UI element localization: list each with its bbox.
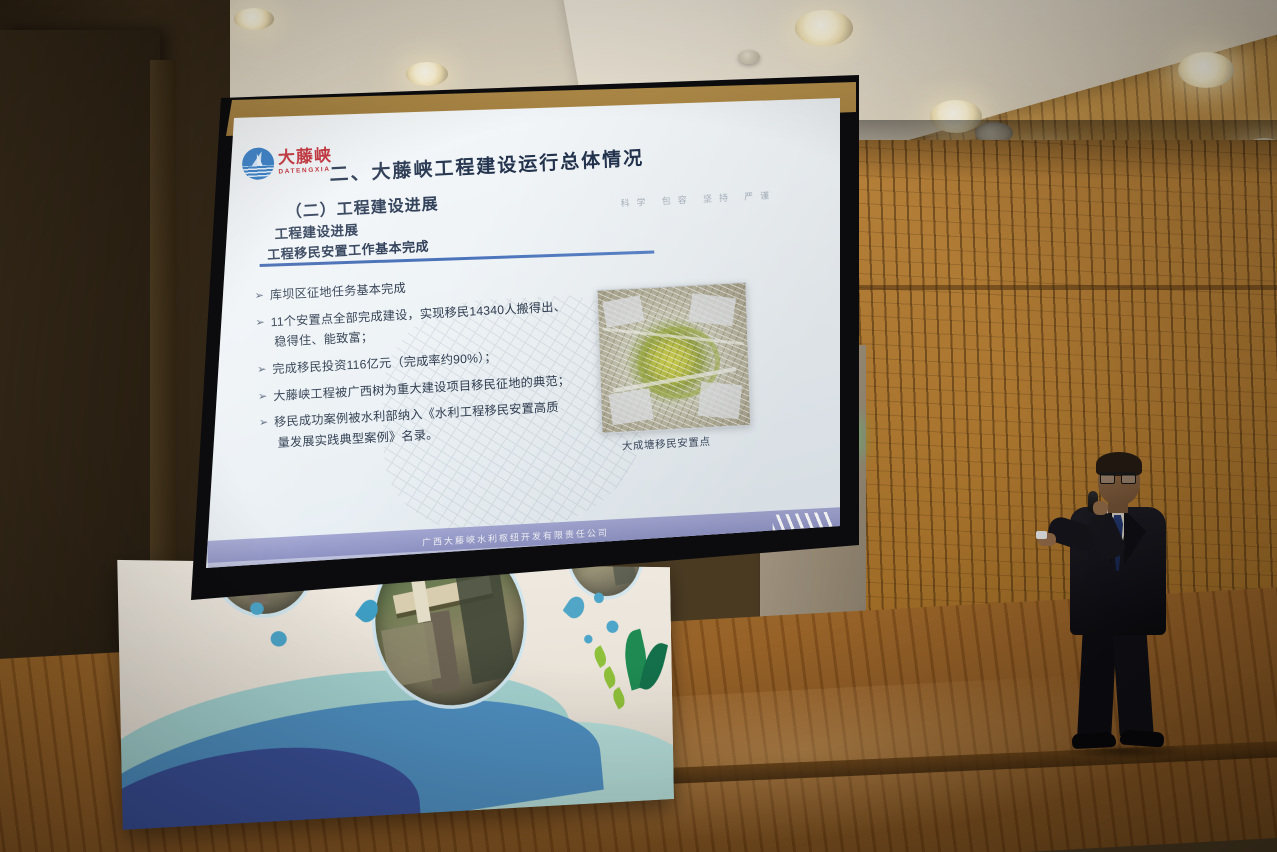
downlight-icon (234, 8, 274, 30)
water-dot-icon (250, 602, 264, 615)
slide-bullet-list: ➢ 库坝区征地任务基本完成 ➢ 11个安置点全部完成建设，实现移民14340人搬… (254, 267, 654, 463)
company-logo: 大藤峡 DATENGXIA (242, 144, 333, 181)
water-dot-icon (594, 593, 604, 604)
smoke-detector (738, 50, 760, 64)
downlight-icon (1178, 52, 1234, 88)
bullet-text: 稳得住、能致富； (274, 329, 374, 352)
slide-section-title: 二、大藤峡工程建设运行总体情况 (329, 143, 644, 187)
plant-leaf-icon (601, 666, 618, 689)
eyeglasses-icon (1100, 472, 1136, 482)
plant-leaf-icon (592, 645, 610, 668)
water-droplet-icon (563, 592, 588, 622)
bullet-arrow-icon: ➢ (258, 388, 268, 406)
water-dot-icon (270, 631, 286, 646)
presentation-clicker (1036, 531, 1047, 539)
datengxia-sail-emblem-icon (242, 147, 275, 181)
bullet-arrow-icon: ➢ (254, 288, 264, 306)
dachengtang-resettlement-aerial-photo (597, 282, 752, 434)
water-dot-icon (606, 621, 618, 633)
presentation-slide: 大藤峡 DATENGXIA 二、大藤峡工程建设运行总体情况 （二）工程建设进展 … (200, 98, 840, 568)
slide-subsection-title: （二）工程建设进展 (285, 190, 439, 222)
bullet-arrow-icon: ➢ (259, 415, 269, 433)
bullet-arrow-icon: ➢ (255, 314, 265, 332)
presenter-speaking (1036, 455, 1196, 760)
bullet-arrow-icon: ➢ (257, 362, 267, 380)
water-dot-icon (584, 635, 592, 644)
plant-leaf-icon (610, 687, 627, 710)
logo-chinese-text: 大藤峡 (278, 147, 333, 167)
decorative-stage-backdrop (117, 560, 674, 830)
conference-room-photo: 大藤峡 DATENGXIA 二、大藤峡工程建设运行总体情况 （二）工程建设进展 … (0, 0, 1277, 852)
slide-motto: 科学 包容 坚持 严谨 (620, 188, 776, 209)
downlight-icon (406, 62, 448, 86)
downlight-icon (795, 10, 853, 46)
logo-pinyin-text: DATENGXIA (278, 166, 332, 176)
bullet-text: 库坝区征地任务基本完成 (270, 280, 407, 305)
bullet-text: 完成移民投资116亿元（完成率约90%）； (272, 349, 497, 379)
